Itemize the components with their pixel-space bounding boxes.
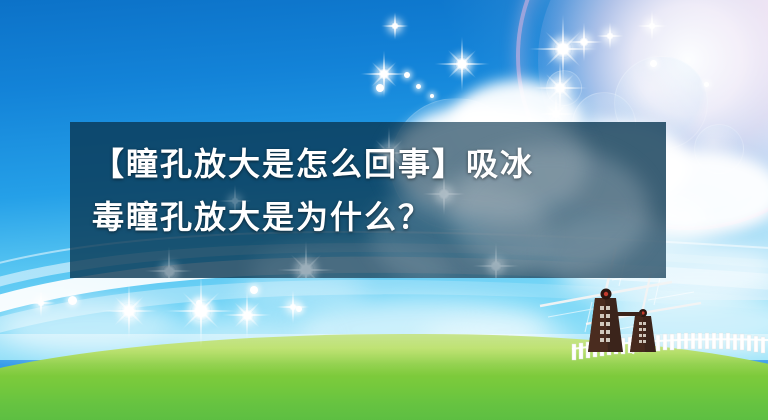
image-canvas: 【瞳孔放大是怎么回事】吸冰 毒瞳孔放大是为什么？ [0, 0, 768, 420]
headline-banner: 【瞳孔放大是怎么回事】吸冰 毒瞳孔放大是为什么？ [70, 122, 666, 278]
headline-line-2: 毒瞳孔放大是为什么？ [92, 191, 666, 244]
cloud [236, 272, 366, 312]
sparkle-icon [144, 246, 194, 278]
headline-line-1: 【瞳孔放大是怎么回事】吸冰 [92, 138, 666, 191]
